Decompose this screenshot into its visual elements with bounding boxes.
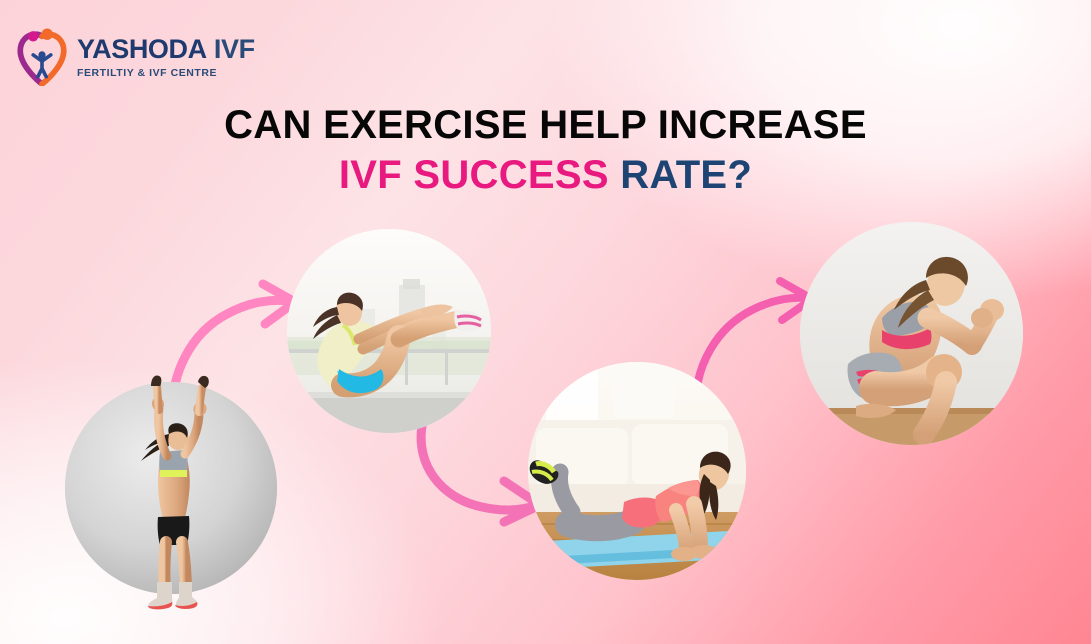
headline-line-1: CAN EXERCISE HELP INCREASE	[0, 104, 1091, 146]
brand-logo[interactable]: YASHODA IVF FERTILTIY & IVF CENTRE	[16, 28, 255, 86]
headline-block: CAN EXERCISE HELP INCREASE IVF SUCCESS R…	[0, 104, 1091, 198]
brand-name-secondary: IVF	[214, 34, 255, 64]
step-2-photo-v-sit-crunch	[287, 229, 491, 433]
headline-highlight-ivf-success: IVF SUCCESS	[339, 153, 609, 197]
brand-name-primary: YASHODA	[77, 34, 207, 64]
headline-highlight-rate: RATE?	[620, 153, 752, 197]
brand-wordmark: YASHODA IVF FERTILTIY & IVF CENTRE	[77, 36, 255, 79]
step-1-photo-jumping-jacks	[65, 382, 277, 594]
heart-family-icon	[16, 28, 68, 86]
step-3-photo-knee-push-up	[528, 362, 746, 580]
step-4-photo-bodyweight-squat	[800, 222, 1023, 445]
poster-canvas: YASHODA IVF FERTILTIY & IVF CENTRE CAN E…	[0, 0, 1091, 644]
brand-tagline: FERTILTIY & IVF CENTRE	[77, 68, 255, 79]
headline-line-2: IVF SUCCESS RATE?	[0, 153, 1091, 198]
